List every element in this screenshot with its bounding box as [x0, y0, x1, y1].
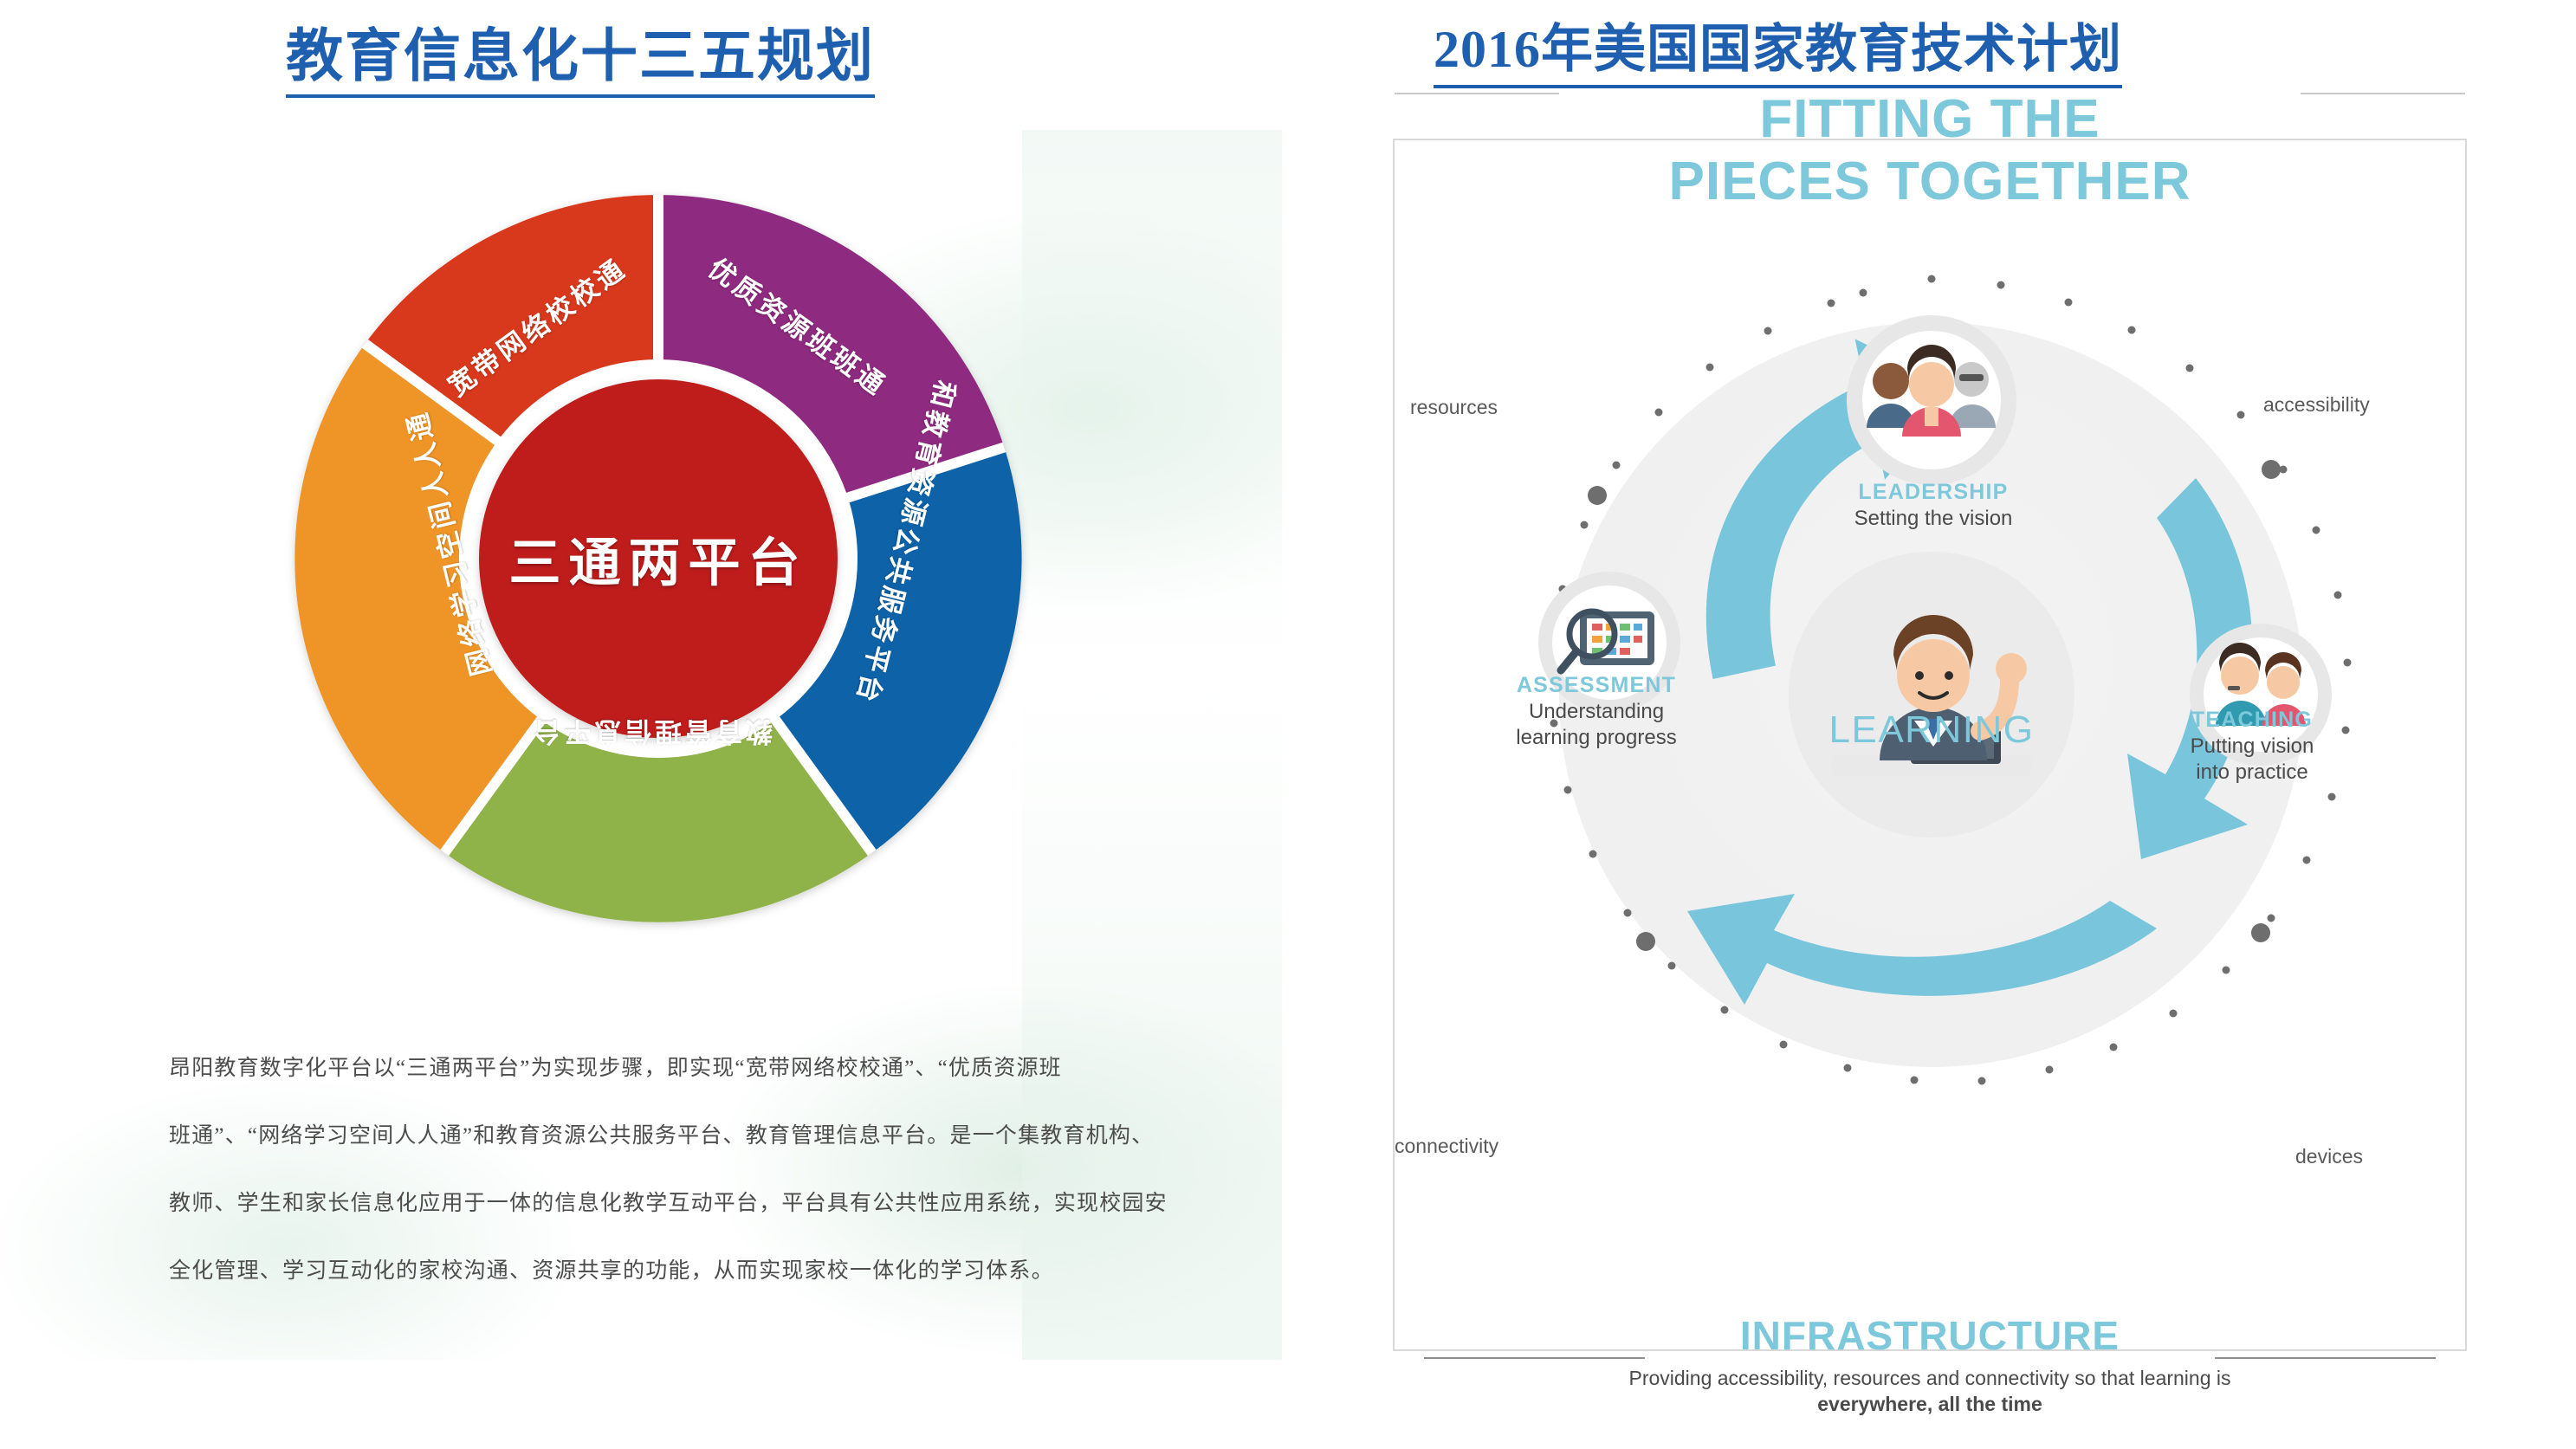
node-leadership-subtitle: Setting the vision: [1786, 507, 2081, 531]
left-panel-title: 教育信息化十三五规划: [286, 24, 875, 98]
paragraph-line: 教师、学生和家长信息化应用于一体的信息化教学互动平台，平台具有公共性应用系统，实…: [169, 1170, 1208, 1238]
heading-rule-right: [2301, 93, 2465, 94]
infographic-heading: FITTING THE PIECES TOGETHER: [1395, 93, 2465, 209]
infrastructure-rule-right: [2215, 1357, 2436, 1359]
donut-label-management-platform: 教育管理信息平台: [530, 715, 773, 754]
outer-label-connectivity: connectivity: [1395, 1135, 1498, 1158]
infrastructure-block: INFRASTRUCTURE Providing accessibility, …: [1393, 1312, 2467, 1418]
outer-label-resources: resources: [1410, 396, 1498, 419]
infrastructure-subtitle: Providing accessibility, resources and c…: [1393, 1366, 2467, 1418]
heading-rule-left: [1395, 93, 1559, 94]
infrastructure-title: INFRASTRUCTURE: [1740, 1312, 2120, 1359]
center-learning-label: LEARNING: [1724, 708, 2139, 752]
node-leadership: LEADERSHIP Setting the vision: [1786, 480, 2081, 531]
donut-center-label: 三通两平台: [509, 521, 808, 597]
outer-label-devices: devices: [2295, 1145, 2363, 1168]
paragraph-line: 昂阳教育数字化平台以“三通两平台”为实现步骤，即实现“宽带网络校校通”、“优质资…: [169, 1035, 1208, 1103]
node-teaching: TEACHING Putting vision into practice: [2122, 708, 2382, 786]
paragraph-line: 全化管理、学习互动化的家校沟通、资源共享的功能，从而实现家校一体化的学习体系。: [169, 1238, 1208, 1305]
right-panel: 2016年美国国家教育技术计划 FITTING THE PIECES TOGET…: [1282, 0, 2576, 1449]
paragraph-line: 班通”、“网络学习空间人人通”和教育资源公共服务平台、教育管理信息平台。是一个集…: [169, 1103, 1208, 1170]
cycle-diagram: LEADERSHIP Setting the vision ASSESSMENT…: [1395, 201, 2469, 1188]
outer-label-accessibility: accessibility: [2263, 393, 2370, 417]
node-assessment-subtitle-1: Understanding: [1453, 700, 1739, 724]
node-teaching-title: TEACHING: [2122, 708, 2382, 733]
heading-line-1: FITTING THE: [1759, 89, 2100, 149]
infrastructure-rule-left: [1424, 1357, 1645, 1359]
infrastructure-subtitle-line-1: Providing accessibility, resources and c…: [1628, 1367, 2230, 1389]
node-teaching-subtitle-1: Putting vision: [2122, 734, 2382, 759]
left-panel: 教育信息化十三五规划: [0, 0, 1282, 1449]
slide-canvas: 教育信息化十三五规划: [0, 0, 2576, 1449]
node-teaching-subtitle-2: into practice: [2122, 760, 2382, 785]
node-assessment: ASSESSMENT Understanding learning progre…: [1453, 673, 1739, 751]
fitting-pieces-infographic: FITTING THE PIECES TOGETHER: [1393, 139, 2467, 1351]
infrastructure-subtitle-line-2: everywhere, all the time: [1817, 1393, 2042, 1415]
node-leadership-title: LEADERSHIP: [1786, 480, 2081, 505]
leadership-icon: [1847, 315, 2016, 485]
right-panel-title: 2016年美国国家教育技术计划: [1434, 7, 2122, 88]
three-connections-two-platforms-donut: 宽带网络校校通 优质资源班班通 和教育资源公共服务平台 教育管理信息平台 网络学…: [260, 160, 1057, 957]
learning-center-icon: [1789, 552, 2074, 838]
node-assessment-subtitle-2: learning progress: [1453, 726, 1739, 750]
left-description-paragraph: 昂阳教育数字化平台以“三通两平台”为实现步骤，即实现“宽带网络校校通”、“优质资…: [169, 1035, 1208, 1305]
node-assessment-title: ASSESSMENT: [1453, 673, 1739, 698]
